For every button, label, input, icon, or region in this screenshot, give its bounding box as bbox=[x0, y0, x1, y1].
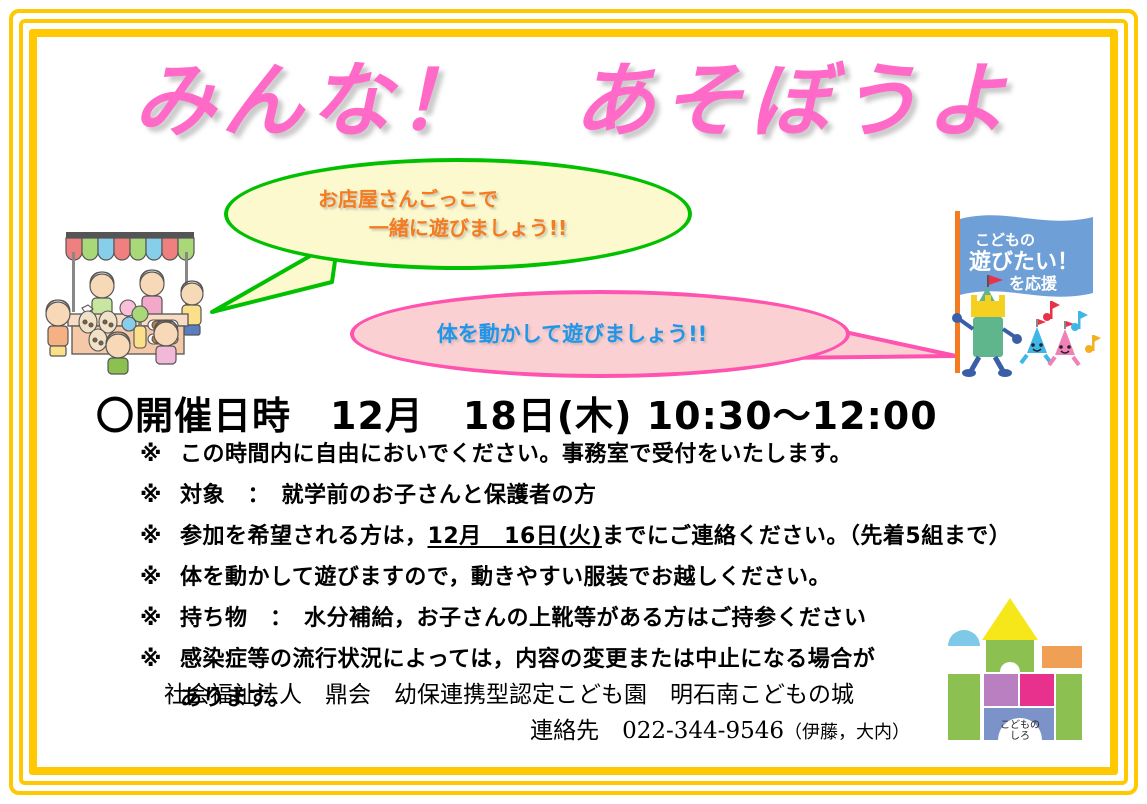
deadline-underlined: 12月 16日(火) bbox=[428, 524, 602, 549]
blocks-caption-line-2: しろ bbox=[1010, 730, 1030, 742]
contact-phone: 連絡先 022-344-9546 bbox=[530, 718, 784, 744]
poster-page: みんな！ あそぼうよ bbox=[0, 0, 1147, 804]
bullet-text: 体を動かして遊びますので，動きやすい服装でお越しください。 bbox=[180, 563, 1020, 592]
bubble-yellow-line-2: 一緒に遊びましょう!! bbox=[369, 214, 567, 243]
bullet-text: 参加を希望される方は，12月 16日(火)までにご連絡ください。（先着5組まで） bbox=[180, 522, 1020, 551]
event-headline: 〇開催日時 12月 18日(木) 10:30〜12:00 bbox=[96, 385, 938, 440]
list-item: ※ 感染症等の流行状況によっては，内容の変更または中止になる場合が bbox=[140, 645, 1020, 674]
speech-bubble-yellow: お店屋さんごっこで 一緒に遊びましょう!! bbox=[224, 158, 692, 270]
bullet-text: 感染症等の流行状況によっては，内容の変更または中止になる場合が bbox=[180, 645, 1020, 674]
contact-line: 連絡先 022-344-9546（伊藤，大内） bbox=[150, 714, 950, 750]
bullet-mark-icon: ※ bbox=[140, 481, 180, 510]
bullet-mark-icon: ※ bbox=[140, 440, 180, 469]
page-title: みんな！ あそぼうよ bbox=[0, 34, 1147, 153]
flag-line-2: 遊びたい！ bbox=[969, 249, 1079, 275]
bullet-text: 対象 ： 就学前のお子さんと保護者の方 bbox=[180, 481, 1020, 510]
bullet-mark-icon: ※ bbox=[140, 522, 180, 551]
flag-line-3: を応援 bbox=[1009, 274, 1058, 293]
bullet-mark-icon: ※ bbox=[140, 563, 180, 592]
footer-contact: 社会福祉法人 鼎会 幼保連携型認定こども園 明石南こどもの城 連絡先 022-3… bbox=[150, 678, 950, 749]
bullet-mark-icon: ※ bbox=[140, 645, 180, 674]
contact-persons: （伊藤，大内） bbox=[784, 722, 910, 743]
list-item: ※ 対象 ： 就学前のお子さんと保護者の方 bbox=[140, 481, 1020, 510]
list-item: ※ 持ち物 ： 水分補給，お子さんの上靴等がある方はご持参ください bbox=[140, 604, 1020, 633]
bullet-text: 持ち物 ： 水分補給，お子さんの上靴等がある方はご持参ください bbox=[180, 604, 1020, 633]
list-item: ※ 参加を希望される方は，12月 16日(火)までにご連絡ください。（先着5組ま… bbox=[140, 522, 1020, 551]
candy-shop-illustration bbox=[30, 222, 235, 382]
list-item: ※ この時間内に自由においでください。事務室で受付をいたします。 bbox=[140, 440, 1020, 469]
bullet-text: この時間内に自由においでください。事務室で受付をいたします。 bbox=[180, 440, 1020, 469]
blocks-caption-line-1: こどもの bbox=[1000, 719, 1040, 731]
flag-line-1: こどもの bbox=[975, 231, 1035, 249]
bullet-mark-icon: ※ bbox=[140, 604, 180, 633]
list-item: ※ 体を動かして遊びますので，動きやすい服装でお越しください。 bbox=[140, 563, 1020, 592]
kodomo-no-shiro-blocks-logo: こどもの しろ bbox=[930, 592, 1090, 747]
bubble-yellow-line-1: お店屋さんごっこで bbox=[318, 185, 498, 214]
organization-name: 社会福祉法人 鼎会 幼保連携型認定こども園 明石南こどもの城 bbox=[150, 678, 950, 714]
speech-bubble-pink: 体を動かして遊びましょう!! bbox=[350, 290, 850, 378]
asobitai-flag-logo: こどもの 遊びたい！ を応援 bbox=[935, 205, 1105, 380]
bubble-pink-line-1: 体を動かして遊びましょう!! bbox=[437, 319, 708, 349]
